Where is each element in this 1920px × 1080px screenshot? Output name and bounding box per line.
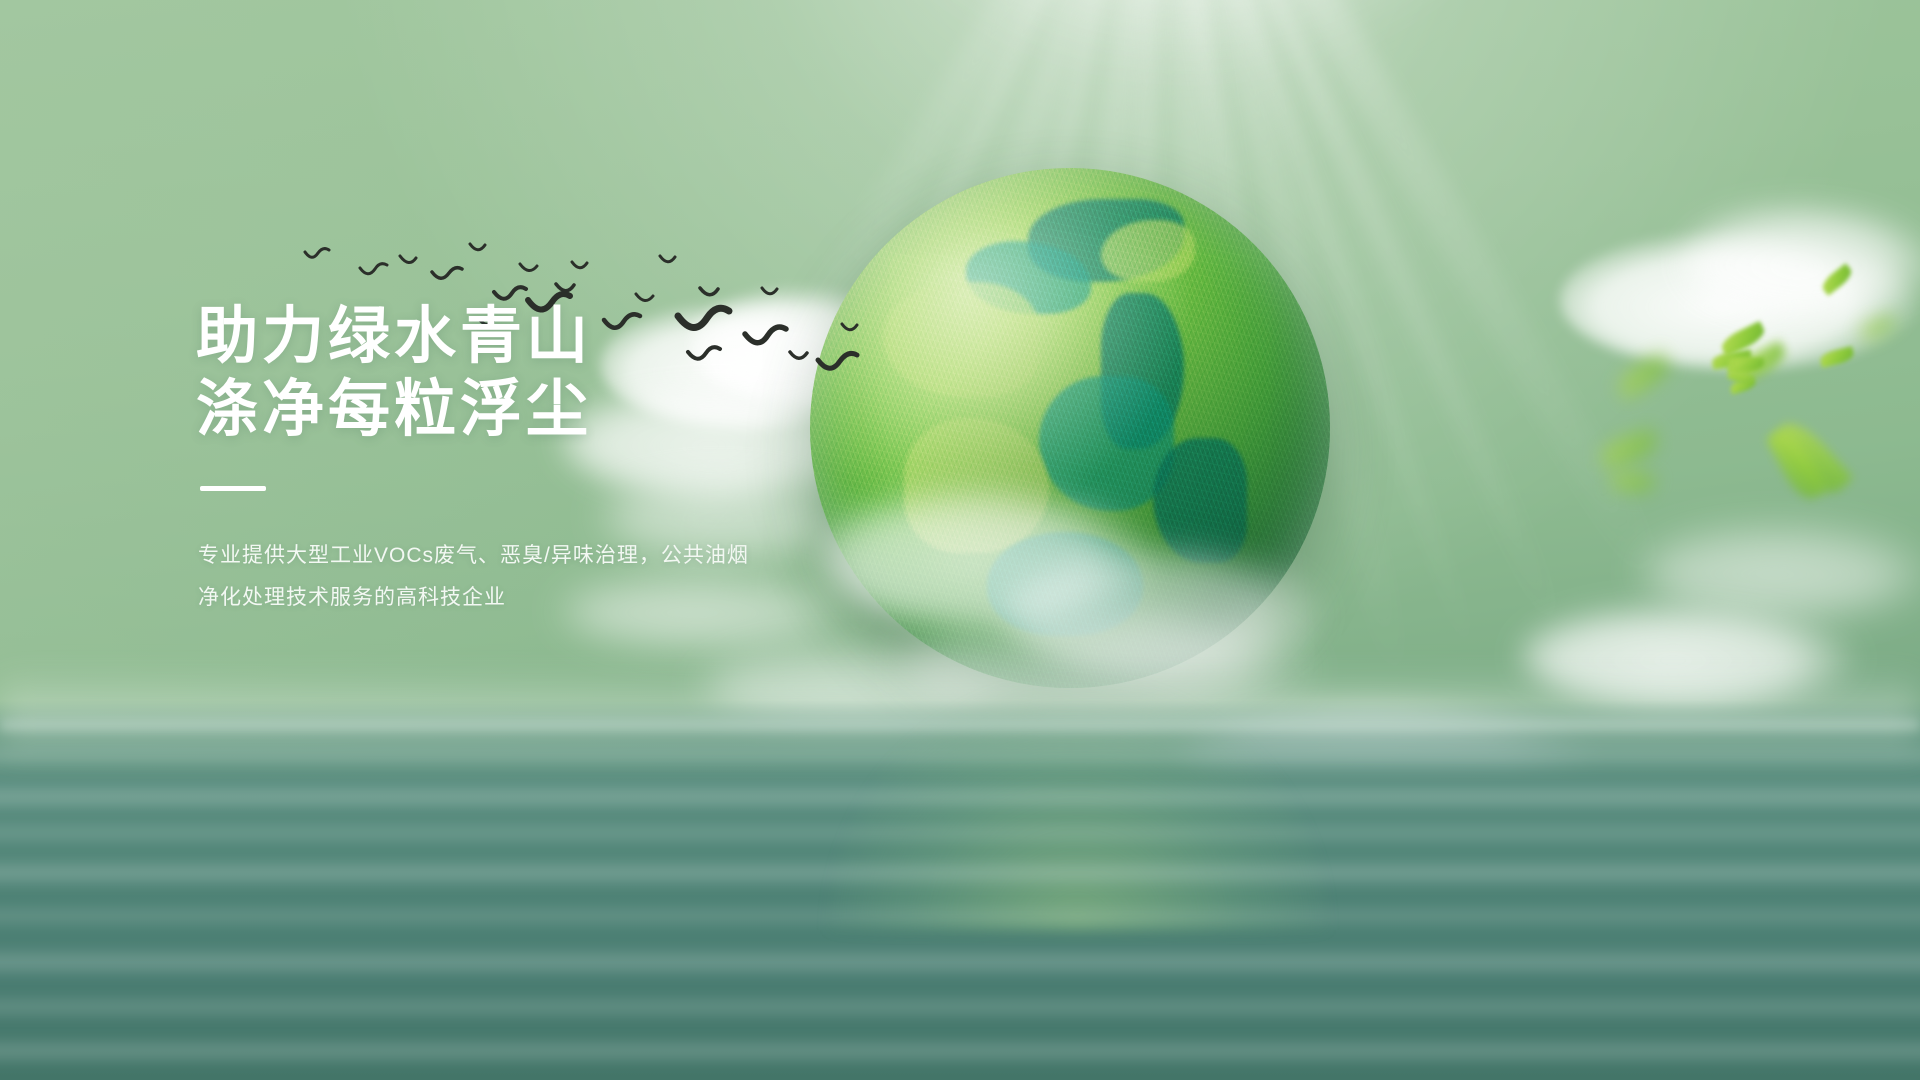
horizon-mist <box>0 670 1920 760</box>
hero-subtitle: 专业提供大型工业VOCs废气、恶臭/异味治理，公共油烟净化处理技术服务的高科技企… <box>198 535 758 619</box>
hero-banner: 助力绿水青山 涤净每粒浮尘 专业提供大型工业VOCs废气、恶臭/异味治理，公共油… <box>0 0 1920 1080</box>
headline-line-1: 助力绿水青山 <box>196 300 956 373</box>
headline-divider <box>200 486 266 491</box>
headline-line-2: 涤净每粒浮尘 <box>196 373 956 446</box>
hero-copy: 助力绿水青山 涤净每粒浮尘 专业提供大型工业VOCs废气、恶臭/异味治理，公共油… <box>196 300 956 619</box>
